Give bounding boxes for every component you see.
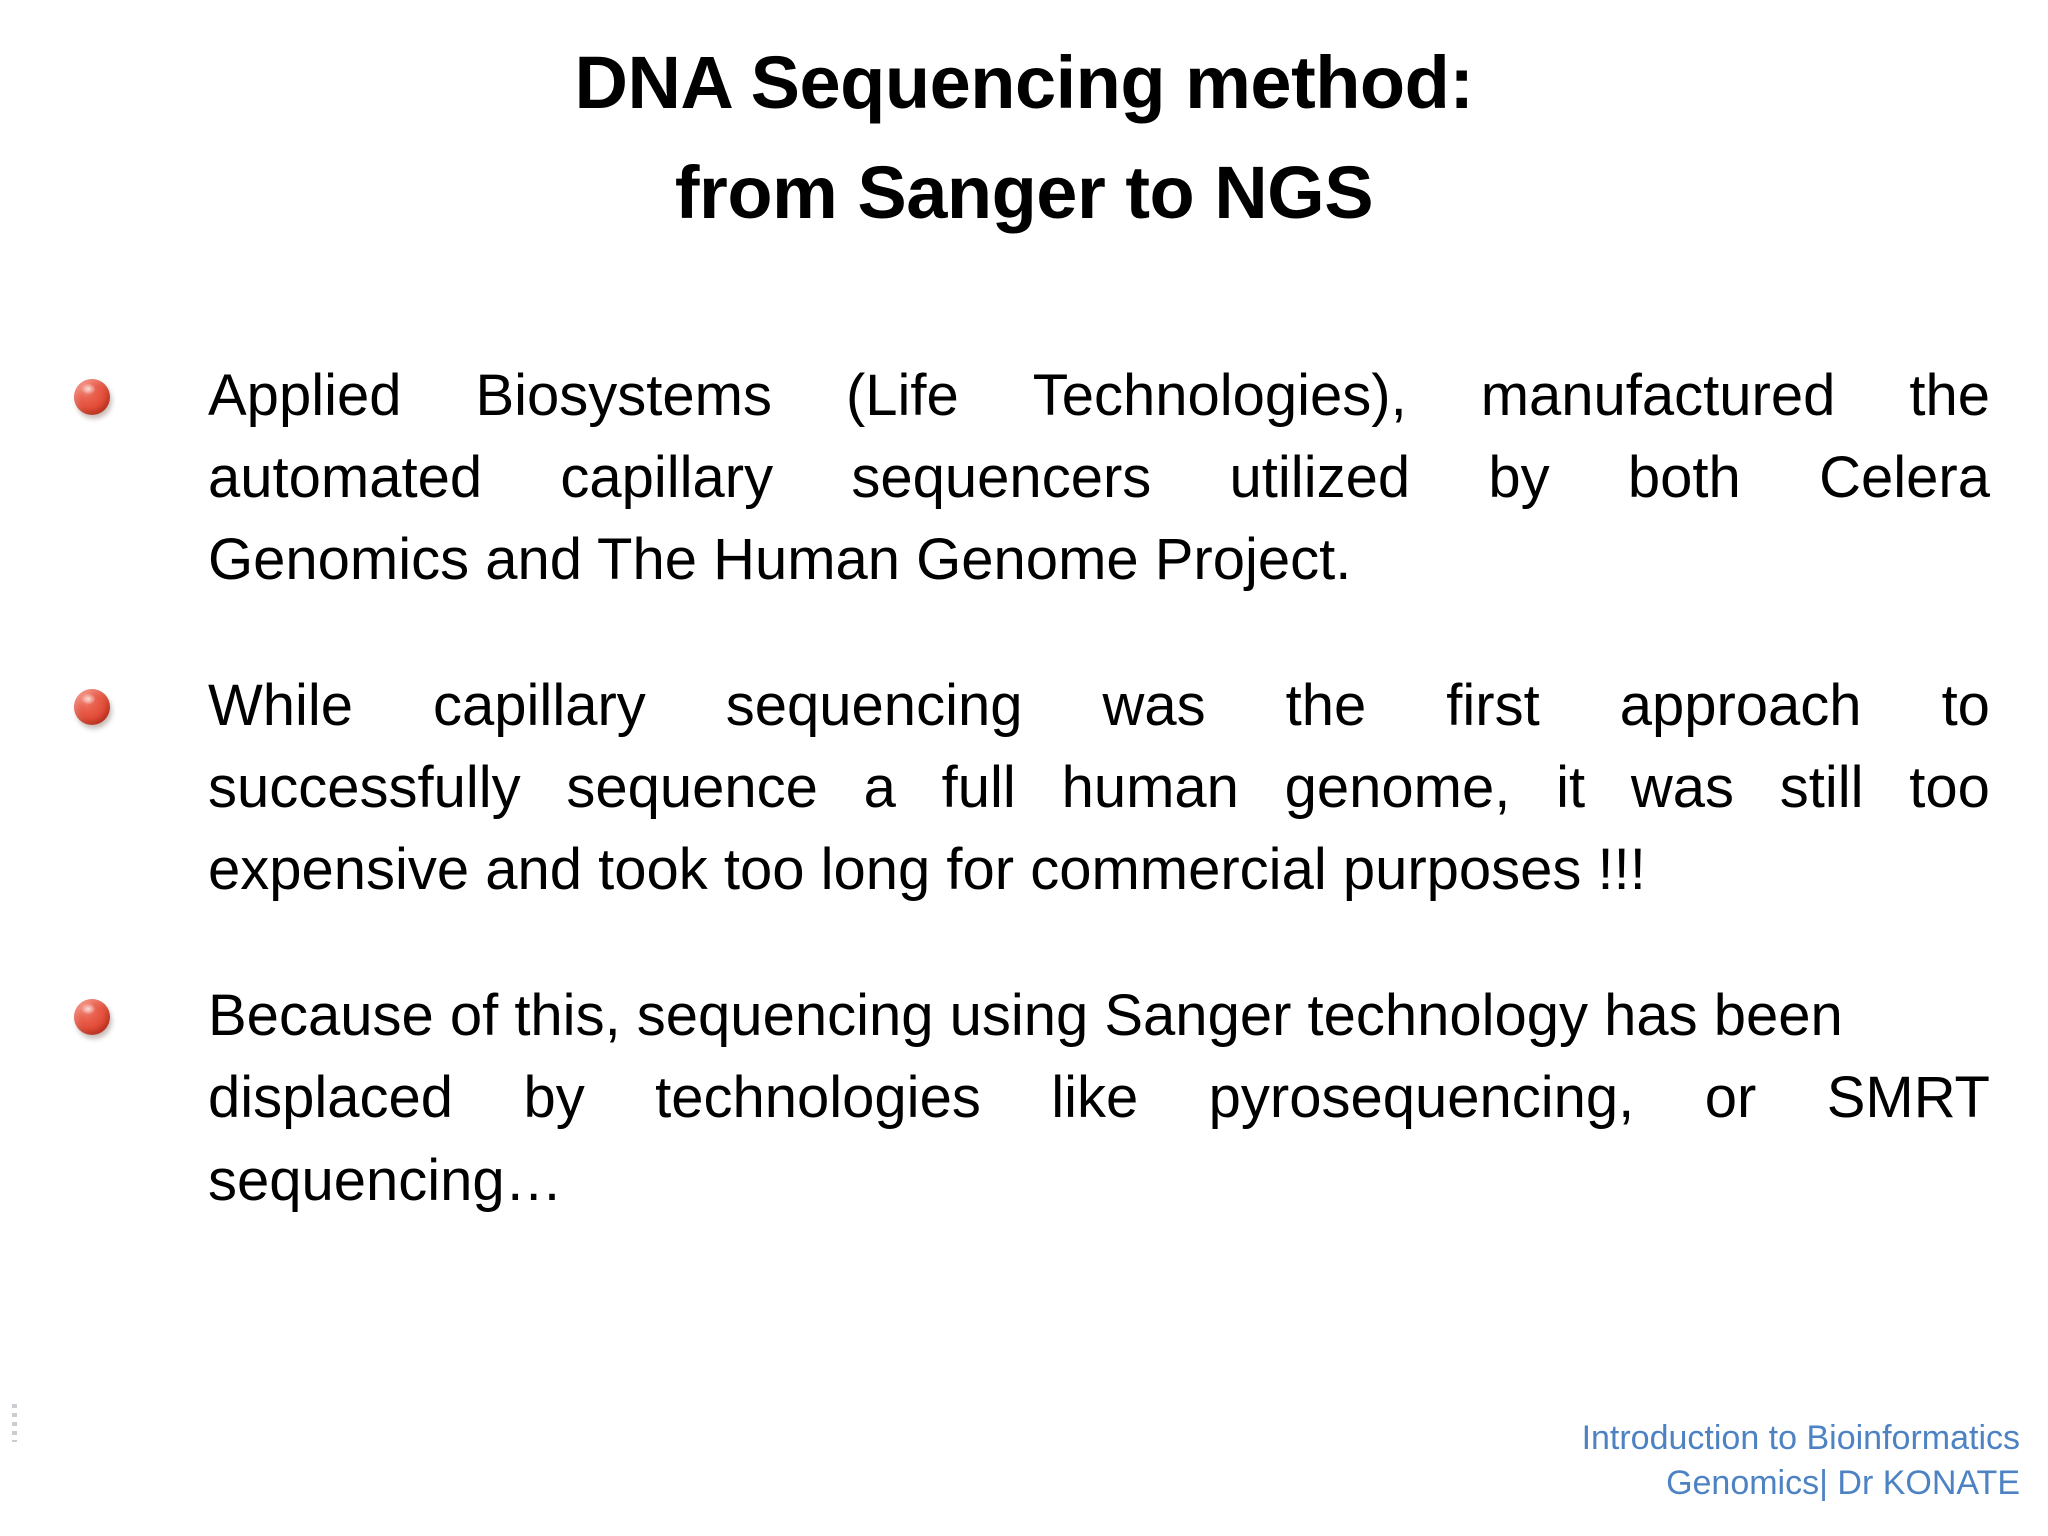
text-word: Technologies),	[1033, 355, 1407, 437]
text-word: was	[1102, 665, 1205, 747]
bullet-3-line-2: displacedbytechnologieslikepyrosequencin…	[208, 1057, 1990, 1139]
text-word: sequencing	[726, 665, 1023, 747]
red-sphere-bullet-icon	[74, 379, 110, 415]
text-word: full	[942, 747, 1016, 829]
bullet-item-2: Whilecapillarysequencingwasthefirstappro…	[60, 665, 1990, 911]
red-sphere-bullet-icon	[74, 999, 110, 1035]
text-word: utilized	[1230, 437, 1411, 519]
footer-line-author: Genomics| Dr KONATE	[1582, 1461, 2020, 1506]
text-word: was	[1631, 747, 1734, 829]
text-word: SMRT	[1827, 1057, 1990, 1139]
text-word: approach	[1620, 665, 1862, 747]
bullet-3-line-1: Because of this, sequencing using Sanger…	[208, 975, 1990, 1057]
text-word: the	[1909, 355, 1990, 437]
text-word: Applied	[208, 355, 401, 437]
bullet-1-line-3: Genomics and The Human Genome Project.	[208, 519, 1990, 601]
text-word: sequencers	[851, 437, 1151, 519]
bullet-item-2-text: Whilecapillarysequencingwasthefirstappro…	[208, 665, 1990, 911]
text-word: a	[864, 747, 896, 829]
bullet-2-line-3: expensive and took too long for commerci…	[208, 829, 1990, 911]
text-word: like	[1051, 1057, 1138, 1139]
bullet-2-line-1: Whilecapillarysequencingwasthefirstappro…	[208, 665, 1990, 747]
footer-line-course: Introduction to Bioinformatics	[1582, 1416, 2020, 1461]
text-word: by	[523, 1057, 584, 1139]
bullet-1-line-1: AppliedBiosystems(LifeTechnologies),manu…	[208, 355, 1990, 437]
text-word: first	[1446, 665, 1539, 747]
slide-title-line-2: from Sanger to NGS	[0, 138, 2048, 248]
text-word: sequence	[566, 747, 818, 829]
text-word: it	[1556, 747, 1585, 829]
slide-title: DNA Sequencing method: from Sanger to NG…	[0, 28, 2048, 247]
bullet-3-line-3: sequencing…	[208, 1140, 1990, 1222]
text-word: (Life	[846, 355, 959, 437]
text-word: While	[208, 665, 353, 747]
left-edge-mark	[12, 1404, 17, 1442]
text-word: displaced	[208, 1057, 453, 1139]
text-word: to	[1942, 665, 1990, 747]
text-word: genome,	[1285, 747, 1511, 829]
text-word: capillary	[433, 665, 646, 747]
bullet-item-3-text: Because of this, sequencing using Sanger…	[208, 975, 1990, 1221]
text-word: technologies	[655, 1057, 981, 1139]
slide-footer: Introduction to Bioinformatics Genomics|…	[1582, 1416, 2020, 1506]
text-word: automated	[208, 437, 482, 519]
text-word: by	[1488, 437, 1549, 519]
text-word: Celera	[1819, 437, 1990, 519]
text-word: manufactured	[1481, 355, 1836, 437]
text-word: still	[1780, 747, 1864, 829]
red-sphere-bullet-icon	[74, 689, 110, 725]
text-word: human	[1062, 747, 1239, 829]
slide-title-line-1: DNA Sequencing method:	[0, 28, 2048, 138]
text-word: capillary	[560, 437, 773, 519]
bullet-item-3: Because of this, sequencing using Sanger…	[60, 975, 1990, 1221]
text-word: Biosystems	[475, 355, 772, 437]
bullet-1-line-2: automatedcapillarysequencersutilizedbybo…	[208, 437, 1990, 519]
bullet-item-1-text: AppliedBiosystems(LifeTechnologies),manu…	[208, 355, 1990, 601]
bullet-item-1: AppliedBiosystems(LifeTechnologies),manu…	[60, 355, 1990, 601]
text-word: both	[1628, 437, 1741, 519]
text-word: or	[1705, 1057, 1757, 1139]
text-word: too	[1909, 747, 1990, 829]
text-word: successfully	[208, 747, 521, 829]
slide-canvas: DNA Sequencing method: from Sanger to NG…	[0, 0, 2048, 1536]
text-word: pyrosequencing,	[1209, 1057, 1635, 1139]
bullet-2-line-2: successfullysequenceafullhumangenome,itw…	[208, 747, 1990, 829]
bullet-list: AppliedBiosystems(LifeTechnologies),manu…	[60, 355, 1990, 1222]
text-word: the	[1286, 665, 1367, 747]
